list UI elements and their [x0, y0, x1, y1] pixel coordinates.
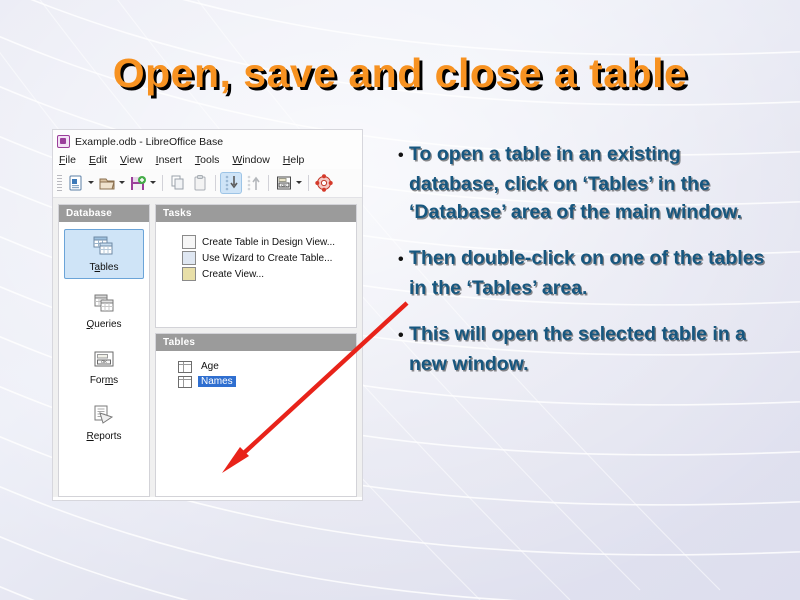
toolbar-grip[interactable]: [57, 175, 62, 191]
menu-item-window[interactable]: Window: [232, 154, 269, 166]
svg-text:OK: OK: [101, 359, 107, 364]
sidebar-item-label: Tables: [90, 262, 119, 273]
menu-label: ools: [200, 154, 219, 166]
new-document-dropdown-icon[interactable]: [87, 173, 94, 193]
bullet-dot: •: [398, 147, 404, 164]
new-document-icon[interactable]: [66, 173, 86, 193]
menubar: File Edit View Insert Tools Window Help: [53, 151, 362, 169]
menu-label: ile: [65, 154, 76, 166]
toolbar-separator: [308, 175, 309, 191]
menu-item-view[interactable]: View: [120, 154, 143, 166]
tasks-panel-header: Tasks: [156, 205, 356, 222]
tasks-panel: Tasks Create Table in Design View... Use…: [155, 204, 357, 328]
toolbar-separator: [162, 175, 163, 191]
list-item: • Then double-click on one of the tables…: [398, 244, 770, 302]
wizard-icon: [182, 251, 196, 265]
menu-accel: V: [120, 154, 127, 166]
reports-icon: [92, 404, 116, 429]
table-name: Names: [198, 376, 236, 387]
menu-item-edit[interactable]: Edit: [89, 154, 107, 166]
toolbar: OK: [53, 169, 362, 198]
tables-item-list: Age Names: [156, 351, 356, 496]
sidebar-item-forms[interactable]: OK Forms: [65, 343, 143, 391]
libreoffice-base-icon: [57, 135, 70, 148]
menu-accel: E: [89, 154, 96, 166]
queries-icon: [92, 292, 116, 317]
tasks-item-list: Create Table in Design View... Use Wizar…: [156, 222, 356, 327]
toolbar-separator: [215, 175, 216, 191]
sidebar-item-label: Queries: [86, 319, 121, 330]
save-dropdown-icon[interactable]: [149, 173, 156, 193]
bullet-dot: •: [398, 251, 404, 268]
bullet-text: To open a table in an existing database,…: [409, 143, 742, 223]
open-folder-dropdown-icon[interactable]: [118, 173, 125, 193]
base-main-area: Database Tables Queries OK: [53, 198, 362, 497]
paste-icon[interactable]: [190, 173, 210, 193]
task-create-table-design-view[interactable]: Create Table in Design View...: [182, 234, 356, 250]
sort-ascending-icon[interactable]: [243, 173, 263, 193]
page-title: Open, save and close a table: [0, 50, 800, 97]
sidebar-item-label: Reports: [86, 431, 121, 442]
sort-descending-icon[interactable]: [221, 173, 241, 193]
list-item: • To open a table in an existing databas…: [398, 140, 770, 226]
list-item[interactable]: Names: [178, 374, 356, 389]
sidebar-item-tables[interactable]: Tables: [64, 229, 144, 279]
svg-text:OK: OK: [281, 182, 287, 187]
task-label: Create View...: [202, 269, 264, 280]
tables-icon: [92, 235, 116, 260]
design-view-icon: [182, 235, 196, 249]
menu-label: iew: [127, 154, 143, 166]
task-use-wizard-create-table[interactable]: Use Wizard to Create Table...: [182, 250, 356, 266]
open-folder-icon[interactable]: [97, 173, 117, 193]
toolbar-separator: [268, 175, 269, 191]
bullet-text: Then double-click on one of the tables i…: [409, 247, 764, 299]
task-label: Create Table in Design View...: [202, 237, 335, 248]
list-item: • This will open the selected table in a…: [398, 320, 770, 378]
tables-panel: Tables Age Names: [155, 333, 357, 497]
sidebar-item-reports[interactable]: Reports: [65, 399, 143, 447]
bullet-dot: •: [398, 327, 404, 344]
sidebar-item-queries[interactable]: Queries: [65, 287, 143, 335]
form-design-icon[interactable]: OK: [274, 173, 294, 193]
task-label: Use Wizard to Create Table...: [202, 253, 332, 264]
menu-item-file[interactable]: File: [59, 154, 76, 166]
forms-icon: OK: [92, 348, 116, 373]
titlebar: Example.odb - LibreOffice Base: [53, 130, 362, 151]
database-item-list: Tables Queries OK Forms: [59, 222, 149, 496]
menu-label: elp: [290, 154, 304, 166]
menu-label: nsert: [159, 154, 182, 166]
copy-icon[interactable]: [168, 173, 188, 193]
table-grid-icon: [178, 376, 192, 388]
menu-label: indow: [242, 154, 269, 166]
help-icon[interactable]: [314, 173, 334, 193]
task-create-view[interactable]: Create View...: [182, 266, 356, 282]
menu-label: dit: [96, 154, 107, 166]
menu-item-tools[interactable]: Tools: [195, 154, 220, 166]
form-design-dropdown-icon[interactable]: [295, 173, 302, 193]
menu-accel: W: [232, 154, 242, 166]
right-column: Tasks Create Table in Design View... Use…: [155, 204, 357, 497]
libreoffice-base-screenshot: Example.odb - LibreOffice Base File Edit…: [53, 130, 362, 500]
sidebar-item-label: Forms: [90, 375, 118, 386]
menu-item-insert[interactable]: Insert: [156, 154, 182, 166]
bullet-text: This will open the selected table in a n…: [409, 323, 746, 375]
list-item[interactable]: Age: [178, 359, 356, 374]
create-view-icon: [182, 267, 196, 281]
save-icon[interactable]: [128, 173, 148, 193]
bullet-list: • To open a table in an existing databas…: [398, 140, 770, 396]
table-name: Age: [198, 361, 222, 372]
tables-panel-header: Tables: [156, 334, 356, 351]
window-title: Example.odb - LibreOffice Base: [75, 136, 223, 148]
database-panel: Database Tables Queries OK: [58, 204, 150, 497]
database-panel-header: Database: [59, 205, 149, 222]
table-grid-icon: [178, 361, 192, 373]
menu-item-help[interactable]: Help: [283, 154, 305, 166]
